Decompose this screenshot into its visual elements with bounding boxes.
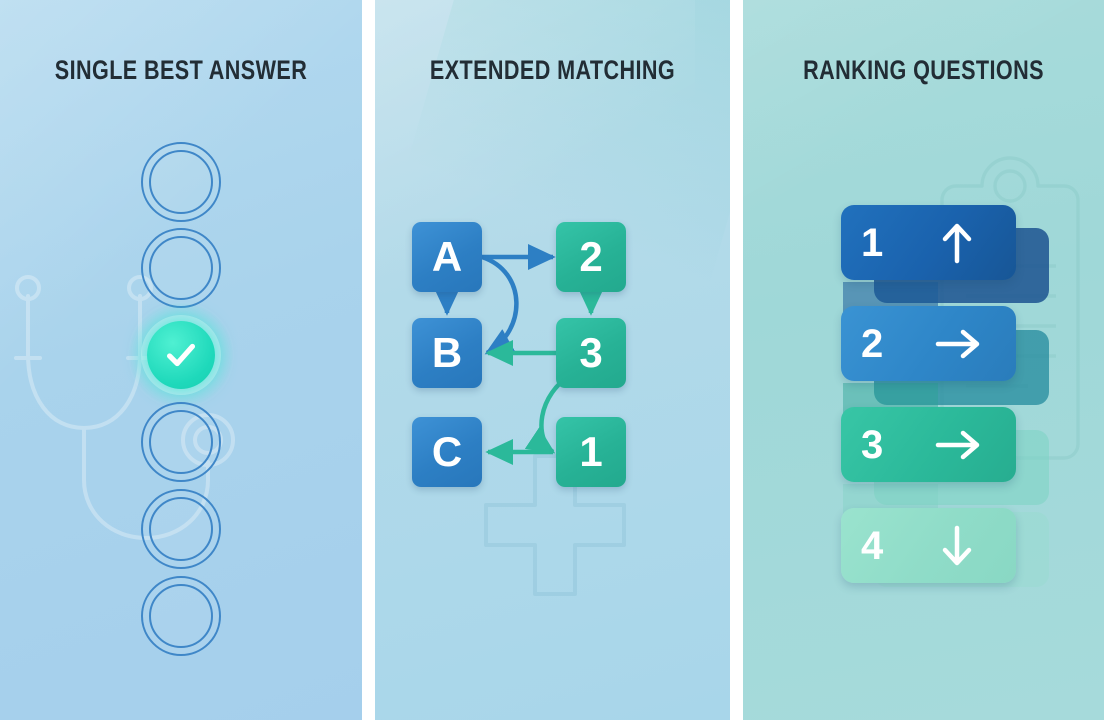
ranking-card-list: 1 2 3 bbox=[743, 0, 1104, 720]
question-type-board: SINGLE BEST ANSWER bbox=[0, 0, 1104, 720]
ranking-card-2-number: 2 bbox=[861, 324, 917, 364]
answer-option-list bbox=[0, 0, 362, 720]
answer-option-4[interactable] bbox=[141, 402, 221, 482]
ranking-card-3[interactable]: 3 bbox=[841, 407, 1016, 482]
panel-divider-1 bbox=[362, 0, 375, 720]
panel-single-best-answer: SINGLE BEST ANSWER bbox=[0, 0, 362, 720]
answer-option-1[interactable] bbox=[141, 142, 221, 222]
check-icon bbox=[162, 336, 200, 374]
answer-option-2[interactable] bbox=[141, 228, 221, 308]
panel-extended-matching: EXTENDED MATCHING bbox=[375, 0, 730, 720]
panel-title-single-best-answer: SINGLE BEST ANSWER bbox=[36, 55, 326, 86]
answer-option-3-selected[interactable] bbox=[141, 315, 221, 395]
arrow-down-icon bbox=[917, 524, 996, 568]
ranking-card-4-number: 4 bbox=[861, 526, 917, 566]
panel-divider-2 bbox=[730, 0, 743, 720]
connector-a-curve-to-b bbox=[482, 257, 516, 353]
match-box-2[interactable]: 2 bbox=[556, 222, 626, 292]
arrow-right-icon bbox=[917, 428, 996, 462]
answer-option-5[interactable] bbox=[141, 489, 221, 569]
match-box-3[interactable]: 3 bbox=[556, 318, 626, 388]
ranking-card-1[interactable]: 1 bbox=[841, 205, 1016, 280]
selection-fill bbox=[147, 321, 215, 389]
match-box-c[interactable]: C bbox=[412, 417, 482, 487]
answer-option-6[interactable] bbox=[141, 576, 221, 656]
ranking-card-4[interactable]: 4 bbox=[841, 508, 1016, 583]
ranking-card-2[interactable]: 2 bbox=[841, 306, 1016, 381]
panel-title-extended-matching: EXTENDED MATCHING bbox=[411, 55, 695, 86]
arrow-up-icon bbox=[917, 221, 996, 265]
matching-diagram: A B C 2 3 1 bbox=[375, 0, 730, 720]
panel-ranking-questions: RANKING QUESTIONS 1 bbox=[743, 0, 1104, 720]
arrow-right-icon bbox=[917, 327, 996, 361]
ranking-card-3-number: 3 bbox=[861, 425, 917, 465]
match-box-a[interactable]: A bbox=[412, 222, 482, 292]
panel-title-ranking-questions: RANKING QUESTIONS bbox=[779, 55, 1068, 86]
match-box-1[interactable]: 1 bbox=[556, 417, 626, 487]
match-box-b[interactable]: B bbox=[412, 318, 482, 388]
ranking-card-1-number: 1 bbox=[861, 223, 917, 263]
